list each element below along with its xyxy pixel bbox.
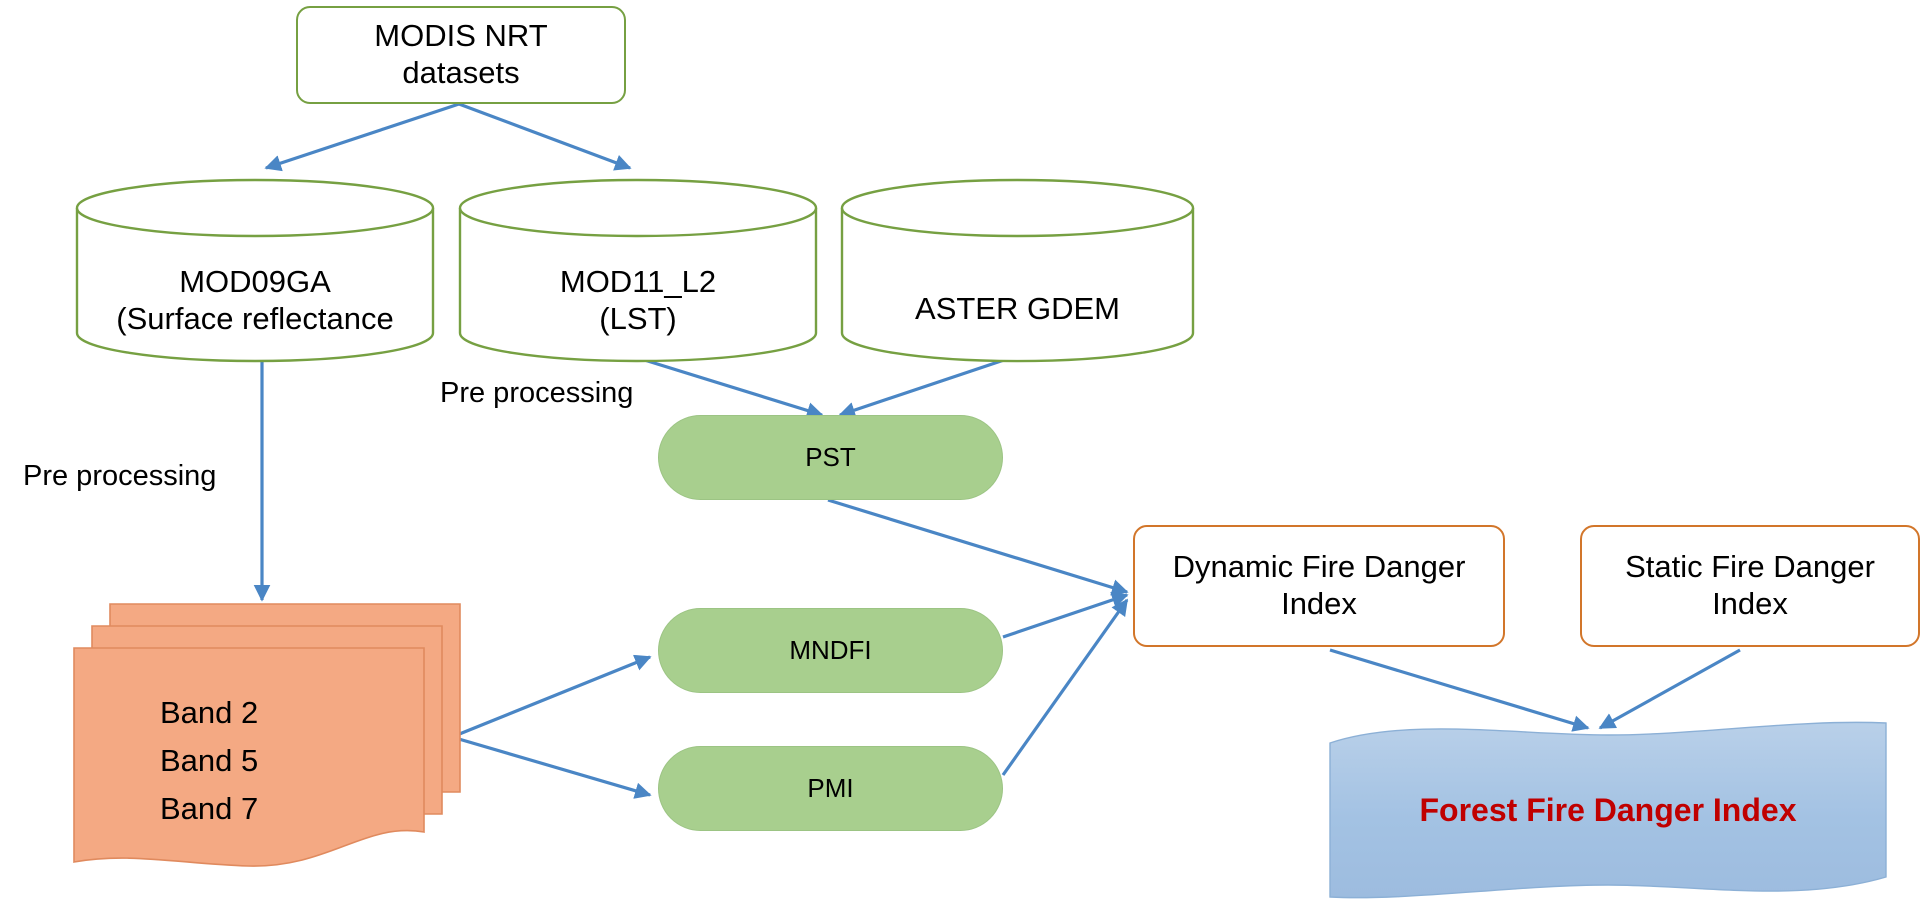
node-mod11-l2-database[interactable]: MOD11_L2 (LST) xyxy=(458,178,818,363)
node-dynamic-index-line1: Dynamic Fire Danger xyxy=(1173,549,1466,586)
edge-modis-to-mod09ga xyxy=(266,104,459,168)
node-modis-nrt-line2: datasets xyxy=(374,55,547,92)
node-pmi-label: PMI xyxy=(807,773,853,804)
multi-document-shape xyxy=(72,600,462,870)
edge-pst-to-dynamic xyxy=(828,500,1127,592)
node-mod11-l2-label: MOD11_L2 (LST) xyxy=(458,204,818,337)
node-band-line2: Band 5 xyxy=(160,737,258,785)
edge-modis-to-mod11 xyxy=(459,104,630,168)
node-forest-fire-danger-index-label: Forest Fire Danger Index xyxy=(1328,792,1888,830)
diagram-canvas: MODIS NRT datasets MOD09GA (Surface refl… xyxy=(0,0,1921,909)
node-modis-nrt-datasets[interactable]: MODIS NRT datasets xyxy=(296,6,626,104)
edge-bands-to-mndfi xyxy=(452,657,650,737)
annotation-pre-processing-mid: Pre processing xyxy=(440,377,633,410)
annotation-pre-processing-left: Pre processing xyxy=(23,460,216,493)
node-mod09ga-label: MOD09GA (Surface reflectance xyxy=(75,204,435,337)
node-forest-index-text: Forest Fire Danger Index xyxy=(1420,792,1797,828)
node-dynamic-fire-danger-index[interactable]: Dynamic Fire Danger Index xyxy=(1133,525,1505,647)
node-mod09ga-database[interactable]: MOD09GA (Surface reflectance xyxy=(75,178,435,363)
node-mndfi-label: MNDFI xyxy=(789,635,871,666)
node-pmi[interactable]: PMI xyxy=(658,746,1003,831)
node-band-line1: Band 2 xyxy=(160,689,258,737)
edge-mndfi-to-dynamic xyxy=(1003,595,1127,637)
node-aster-gdem-line1: ASTER GDEM xyxy=(840,291,1195,328)
node-mndfi[interactable]: MNDFI xyxy=(658,608,1003,693)
node-static-fire-danger-index[interactable]: Static Fire Danger Index xyxy=(1580,525,1920,647)
node-pst-label: PST xyxy=(805,442,856,473)
node-forest-fire-danger-index[interactable]: Forest Fire Danger Index xyxy=(1328,713,1888,909)
node-modis-nrt-line1: MODIS NRT xyxy=(374,18,547,55)
node-band-line3: Band 7 xyxy=(160,785,258,833)
node-mod09ga-line1: MOD09GA xyxy=(75,264,435,301)
node-mod09ga-line2: (Surface reflectance xyxy=(75,301,435,338)
node-aster-gdem-label: ASTER GDEM xyxy=(840,213,1195,328)
node-dynamic-index-line2: Index xyxy=(1173,586,1466,623)
node-static-index-line1: Static Fire Danger xyxy=(1625,549,1875,586)
edge-pmi-to-dynamic xyxy=(1003,600,1127,775)
node-mod11-l2-line2: (LST) xyxy=(458,301,818,338)
node-static-index-line2: Index xyxy=(1625,586,1875,623)
node-mod11-l2-line1: MOD11_L2 xyxy=(458,264,818,301)
node-band-stack-label: Band 2 Band 5 Band 7 xyxy=(160,689,258,833)
edge-bands-to-pmi xyxy=(452,737,650,795)
node-aster-gdem-database[interactable]: ASTER GDEM xyxy=(840,178,1195,363)
node-pst[interactable]: PST xyxy=(658,415,1003,500)
edge-mod11-to-pst xyxy=(638,358,822,415)
node-band-stack[interactable]: Band 2 Band 5 Band 7 xyxy=(72,600,462,870)
edge-aster-to-pst xyxy=(840,358,1010,415)
